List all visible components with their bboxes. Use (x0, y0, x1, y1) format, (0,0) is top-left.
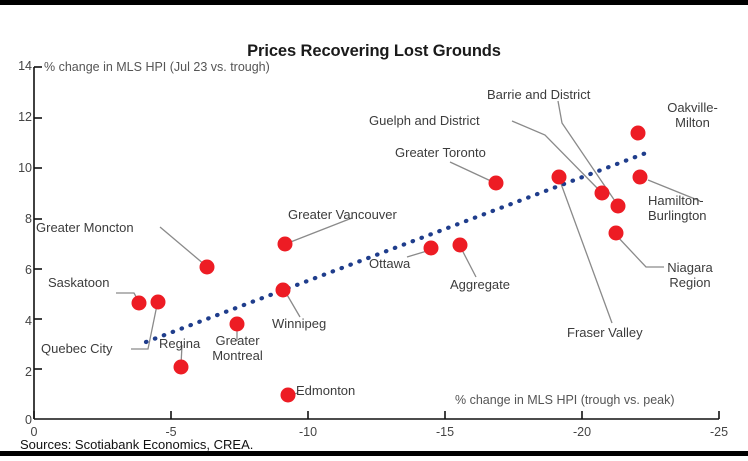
data-point (595, 186, 610, 201)
label-greater-moncton: Greater Moncton (36, 220, 134, 235)
data-point (151, 295, 166, 310)
chart-frame: Prices Recovering Lost Grounds % change … (0, 0, 748, 456)
data-point (132, 296, 147, 311)
data-point (609, 226, 624, 241)
data-point (611, 199, 626, 214)
label-winnipeg: Winnipeg (272, 316, 326, 331)
data-point (230, 317, 245, 332)
label-fraser-valley: Fraser Valley (567, 325, 643, 340)
data-point (200, 260, 215, 275)
data-point (633, 170, 648, 185)
trend-line (146, 153, 646, 342)
label-ottawa: Ottawa (369, 256, 410, 271)
label-quebec-city: Quebec City (41, 341, 113, 356)
label-greater-vancouver: Greater Vancouver (288, 207, 397, 222)
label-aggregate: Aggregate (450, 277, 510, 292)
data-point (489, 176, 504, 191)
label-greater-montreal: Greater Montreal (185, 333, 290, 363)
label-niagara-region: Niagara Region (645, 260, 735, 290)
data-point (552, 170, 567, 185)
label-edmonton: Edmonton (296, 383, 355, 398)
label-guelph-and-district: Guelph and District (369, 113, 480, 128)
data-point (281, 388, 296, 403)
label-greater-toronto: Greater Toronto (395, 145, 486, 160)
data-point (276, 283, 291, 298)
data-point (453, 238, 468, 253)
data-point (278, 237, 293, 252)
label-oakville-milton: Oakville- Milton (640, 100, 745, 130)
data-point (424, 241, 439, 256)
label-barrie-and-district: Barrie and District (487, 87, 590, 102)
label-saskatoon: Saskatoon (48, 275, 109, 290)
label-hamilton-burlington: Hamilton- Burlington (648, 193, 707, 223)
